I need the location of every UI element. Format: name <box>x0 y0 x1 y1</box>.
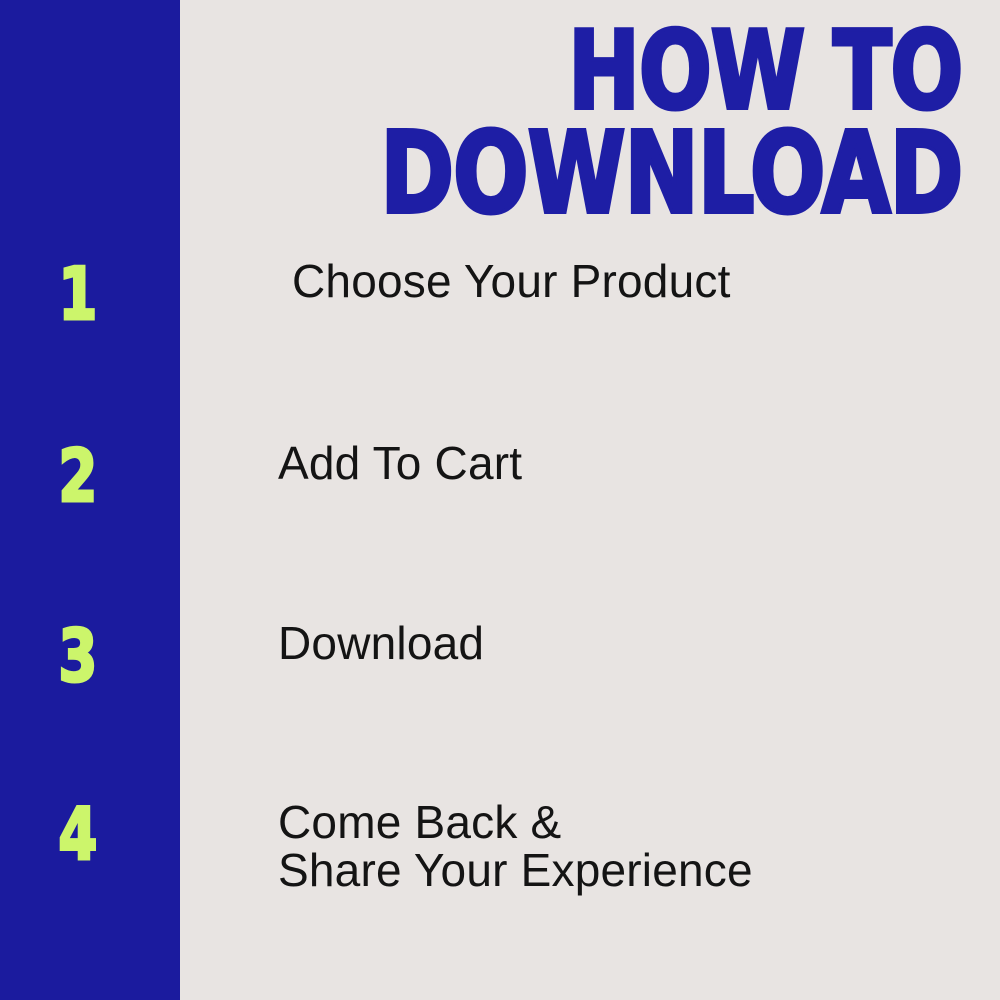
list-item: 2 Add To Cart <box>0 440 1000 560</box>
step-number-3: 3 <box>0 620 155 692</box>
step-label-1: Choose Your Product <box>180 258 1000 304</box>
step-number-4: 4 <box>0 798 155 870</box>
step-label-4: Come Back & Share Your Experience <box>180 798 1000 895</box>
step-label-3: Download <box>180 620 1000 666</box>
step-number-2: 2 <box>0 440 155 512</box>
list-item: 3 Download <box>0 620 1000 740</box>
steps-list: 1 Choose Your Product 2 Add To Cart 3 Do… <box>0 0 1000 1000</box>
step-number-1: 1 <box>0 258 155 330</box>
how-to-download-poster: HOW TO DOWNLOAD 1 Choose Your Product 2 … <box>0 0 1000 1000</box>
list-item: 1 Choose Your Product <box>0 258 1000 378</box>
step-label-2: Add To Cart <box>180 440 1000 486</box>
list-item: 4 Come Back & Share Your Experience <box>0 798 1000 918</box>
